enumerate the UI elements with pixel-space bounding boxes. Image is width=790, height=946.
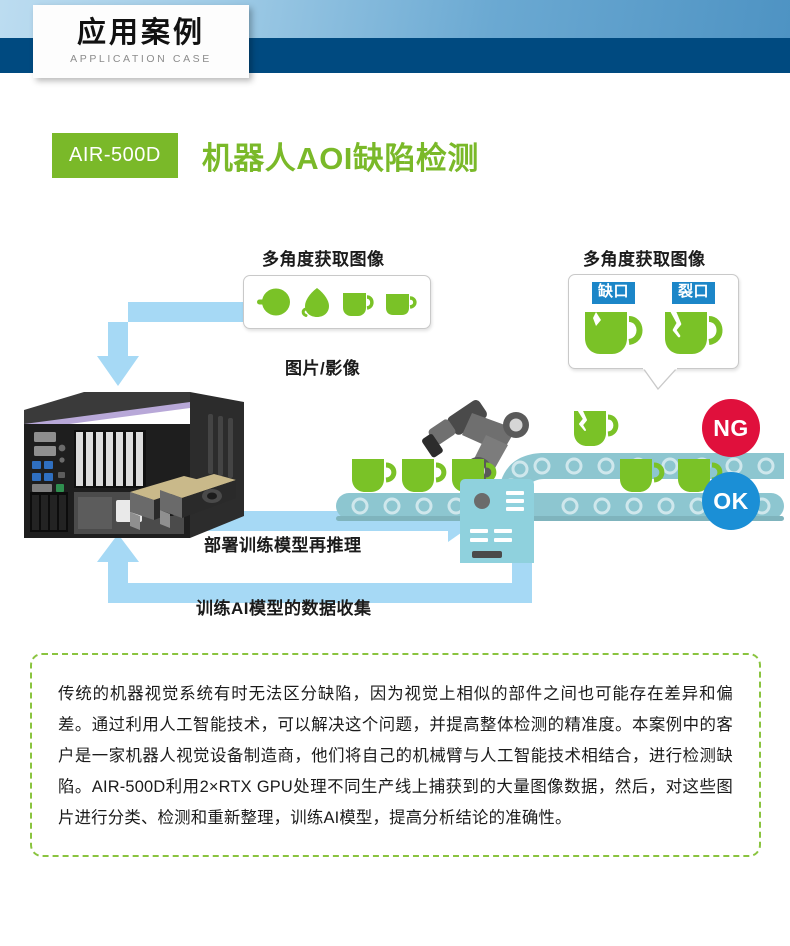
section-title-row: AIR-500D 机器人AOI缺陷检测 [52,133,479,178]
image-capture-panel [243,275,431,329]
defect-item-chip: 缺口 [579,282,649,360]
flow-label-collect: 训练AI模型的数据收集 [196,594,372,619]
right-panel-caption: 多角度获取图像 [583,245,706,270]
description-text: 传统的机器视觉系统有时无法区分缺陷，因为视觉上相似的部件之间也可能存在差异和偏差… [58,679,733,834]
cup-defective-icon [574,411,616,446]
cup-top-view-icon [255,285,295,319]
verdict-badge-ok: OK [702,472,760,530]
pc-drive-bays [30,492,68,532]
cup-side-view-icon-a [339,285,377,319]
left-panel-sub-caption: 图片/影像 [285,354,360,379]
arrow-images-to-pc [97,302,243,386]
page-title: 机器人AOI缺陷检测 [202,133,479,178]
flow-label-deploy: 部署训练模型再推理 [204,531,362,556]
header-title-en: APPLICATION CASE [70,53,212,65]
cup-with-chip-icon [579,304,649,360]
cup-icon [402,459,444,492]
model-badge: AIR-500D [52,133,178,178]
workflow-diagram: 多角度获取图像 图片/影像 多角度获取图 [0,228,790,638]
industrial-pc-illustration [12,388,272,548]
defect-badge-chip: 缺口 [592,282,635,304]
cup-icon [352,459,394,492]
defect-detection-panel: 缺口 裂口 [568,274,739,369]
header-title-plate: 应用案例 APPLICATION CASE [33,5,249,78]
defect-item-crack: 裂口 [659,282,729,360]
cup-with-crack-icon [659,304,729,360]
left-panel-caption: 多角度获取图像 [262,245,385,270]
vision-controller-unit [460,479,534,563]
description-box: 传统的机器视觉系统有时无法区分缺陷，因为视觉上相似的部件之间也可能存在差异和偏差… [30,653,761,857]
pc-expansion-slots [74,430,146,488]
verdict-badge-ng: NG [702,399,760,457]
cup-angled-view-icon [300,285,334,319]
defect-badge-crack: 裂口 [672,282,715,304]
header-title-cn: 应用案例 [77,18,205,50]
cup-side-view-icon-b [382,285,420,319]
pc-side-panel [190,392,244,538]
page-header: 应用案例 APPLICATION CASE [0,0,790,88]
